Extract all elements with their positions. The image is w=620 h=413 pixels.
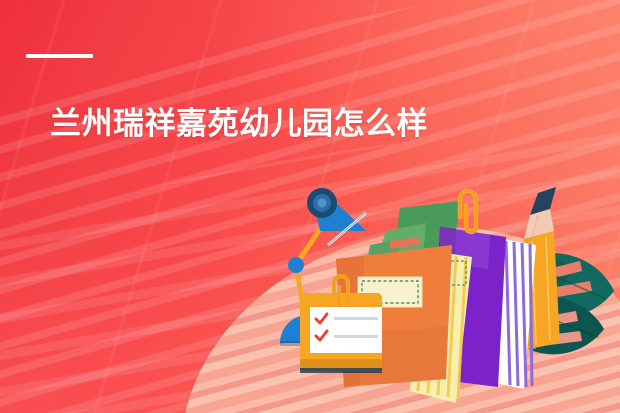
illustration bbox=[274, 183, 620, 413]
title-rule-decoration bbox=[26, 54, 93, 58]
lamp-joint-icon bbox=[288, 257, 304, 273]
paperclip-top-icon bbox=[460, 191, 476, 232]
promo-banner: 兰州瑞祥嘉苑幼儿园怎么样 bbox=[0, 0, 620, 413]
page-title: 兰州瑞祥嘉苑幼儿园怎么样 bbox=[50, 104, 428, 144]
